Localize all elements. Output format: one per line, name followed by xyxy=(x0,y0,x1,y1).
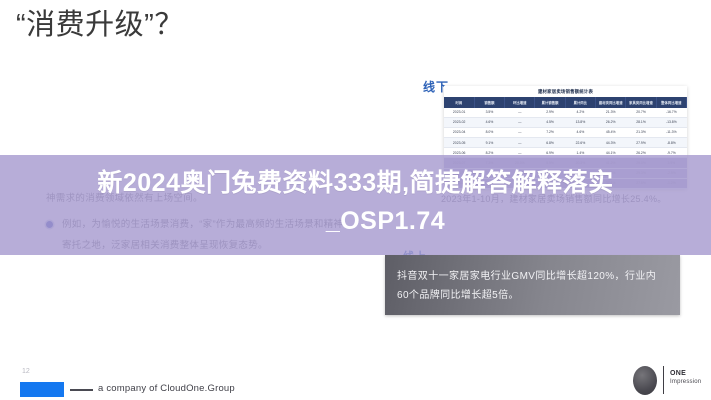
cloudone-logo-icon xyxy=(20,382,64,397)
table-cell: — xyxy=(505,108,535,118)
table-cell: 2023-04 xyxy=(444,127,474,137)
table-caption: 建材家居卖场销售额统计表 xyxy=(444,86,687,97)
callout-box: 抖音双十一家居家电行业GMV同比增长超120%，行业内60个品牌同比增长超5倍。 xyxy=(385,255,680,315)
table-cell: 4.5% xyxy=(535,117,565,127)
callout-text: 抖音双十一家居家电行业GMV同比增长超120%，行业内60个品牌同比增长超5倍。 xyxy=(397,267,664,305)
page-number: 12 xyxy=(22,368,30,375)
table-cell: 8.0% xyxy=(474,127,504,137)
table-cell: 45.4% xyxy=(596,127,626,137)
table-cell: 28.1% xyxy=(626,117,656,127)
brand-subname: Impression xyxy=(670,378,701,386)
table-col-header: 环比增速 xyxy=(505,97,535,108)
table-col-header: 累计同比 xyxy=(565,97,595,108)
brand-name: ONE xyxy=(670,369,686,378)
table-cell: 7.2% xyxy=(535,127,565,137)
table-cell: 26.2% xyxy=(596,117,626,127)
table-cell: -16.7% xyxy=(656,108,686,118)
table-col-header: 累计销售额 xyxy=(535,97,565,108)
logo-divider xyxy=(70,389,93,391)
table-cell: — xyxy=(505,117,535,127)
table-col-header: 整体同比增速 xyxy=(656,97,686,108)
table-cell: 4.6% xyxy=(474,117,504,127)
table-cell: 6.8% xyxy=(535,138,565,148)
page-title: “消费升级”？ xyxy=(16,6,184,44)
table-head: 时间销售额环比增速累计销售额累计同比建材类同比增速家具类同比增速整体同比增速 xyxy=(444,97,687,108)
table-cell: 2.9% xyxy=(535,108,565,118)
one-impression-ellipse-icon xyxy=(633,366,657,395)
table-cell: 2023-02 xyxy=(444,117,474,127)
table-col-header: 建材类同比增速 xyxy=(596,97,626,108)
table-cell: 22.6% xyxy=(565,138,595,148)
table-cell: 21.3% xyxy=(596,108,626,118)
table-cell: — xyxy=(505,127,535,137)
table-cell: -8.8% xyxy=(656,138,686,148)
table-cell: 21.3% xyxy=(626,127,656,137)
table-row: 2023-059.1%—6.8%22.6%44.3%27.9%-8.8% xyxy=(444,138,687,148)
table-row: 2023-013.5%—2.9%4.2%21.3%20.7%-16.7% xyxy=(444,108,687,118)
table-cell: 27.9% xyxy=(626,138,656,148)
logo-caption: a company of CloudOne.Group xyxy=(98,383,235,394)
table-cell: 2023-01 xyxy=(444,108,474,118)
table-header-row: 时间销售额环比增速累计销售额累计同比建材类同比增速家具类同比增速整体同比增速 xyxy=(444,97,687,108)
table-cell: 4.2% xyxy=(565,108,595,118)
table-cell: 4.6% xyxy=(565,127,595,137)
table-cell: — xyxy=(505,138,535,148)
table-cell: 3.5% xyxy=(474,108,504,118)
table-col-header: 销售额 xyxy=(474,97,504,108)
table-row: 2023-048.0%—7.2%4.6%45.4%21.3%-11.3% xyxy=(444,127,687,137)
table-cell: 9.1% xyxy=(474,138,504,148)
table-col-header: 时间 xyxy=(444,97,474,108)
table-cell: 2023-05 xyxy=(444,138,474,148)
brand-divider xyxy=(663,366,664,394)
table-cell: 20.7% xyxy=(626,108,656,118)
table-row: 2023-024.6%—4.5%13.8%26.2%28.1%-13.8% xyxy=(444,117,687,127)
table-cell: 13.8% xyxy=(565,117,595,127)
slide-canvas: “消费升级”？ 线下 建材家居卖场销售额统计表 时间销售额环比增速累计销售额累计… xyxy=(0,0,711,400)
watermark-band xyxy=(0,155,711,255)
table-cell: 44.3% xyxy=(596,138,626,148)
table-cell: -13.8% xyxy=(656,117,686,127)
table-cell: -11.3% xyxy=(656,127,686,137)
table-col-header: 家具类同比增速 xyxy=(626,97,656,108)
